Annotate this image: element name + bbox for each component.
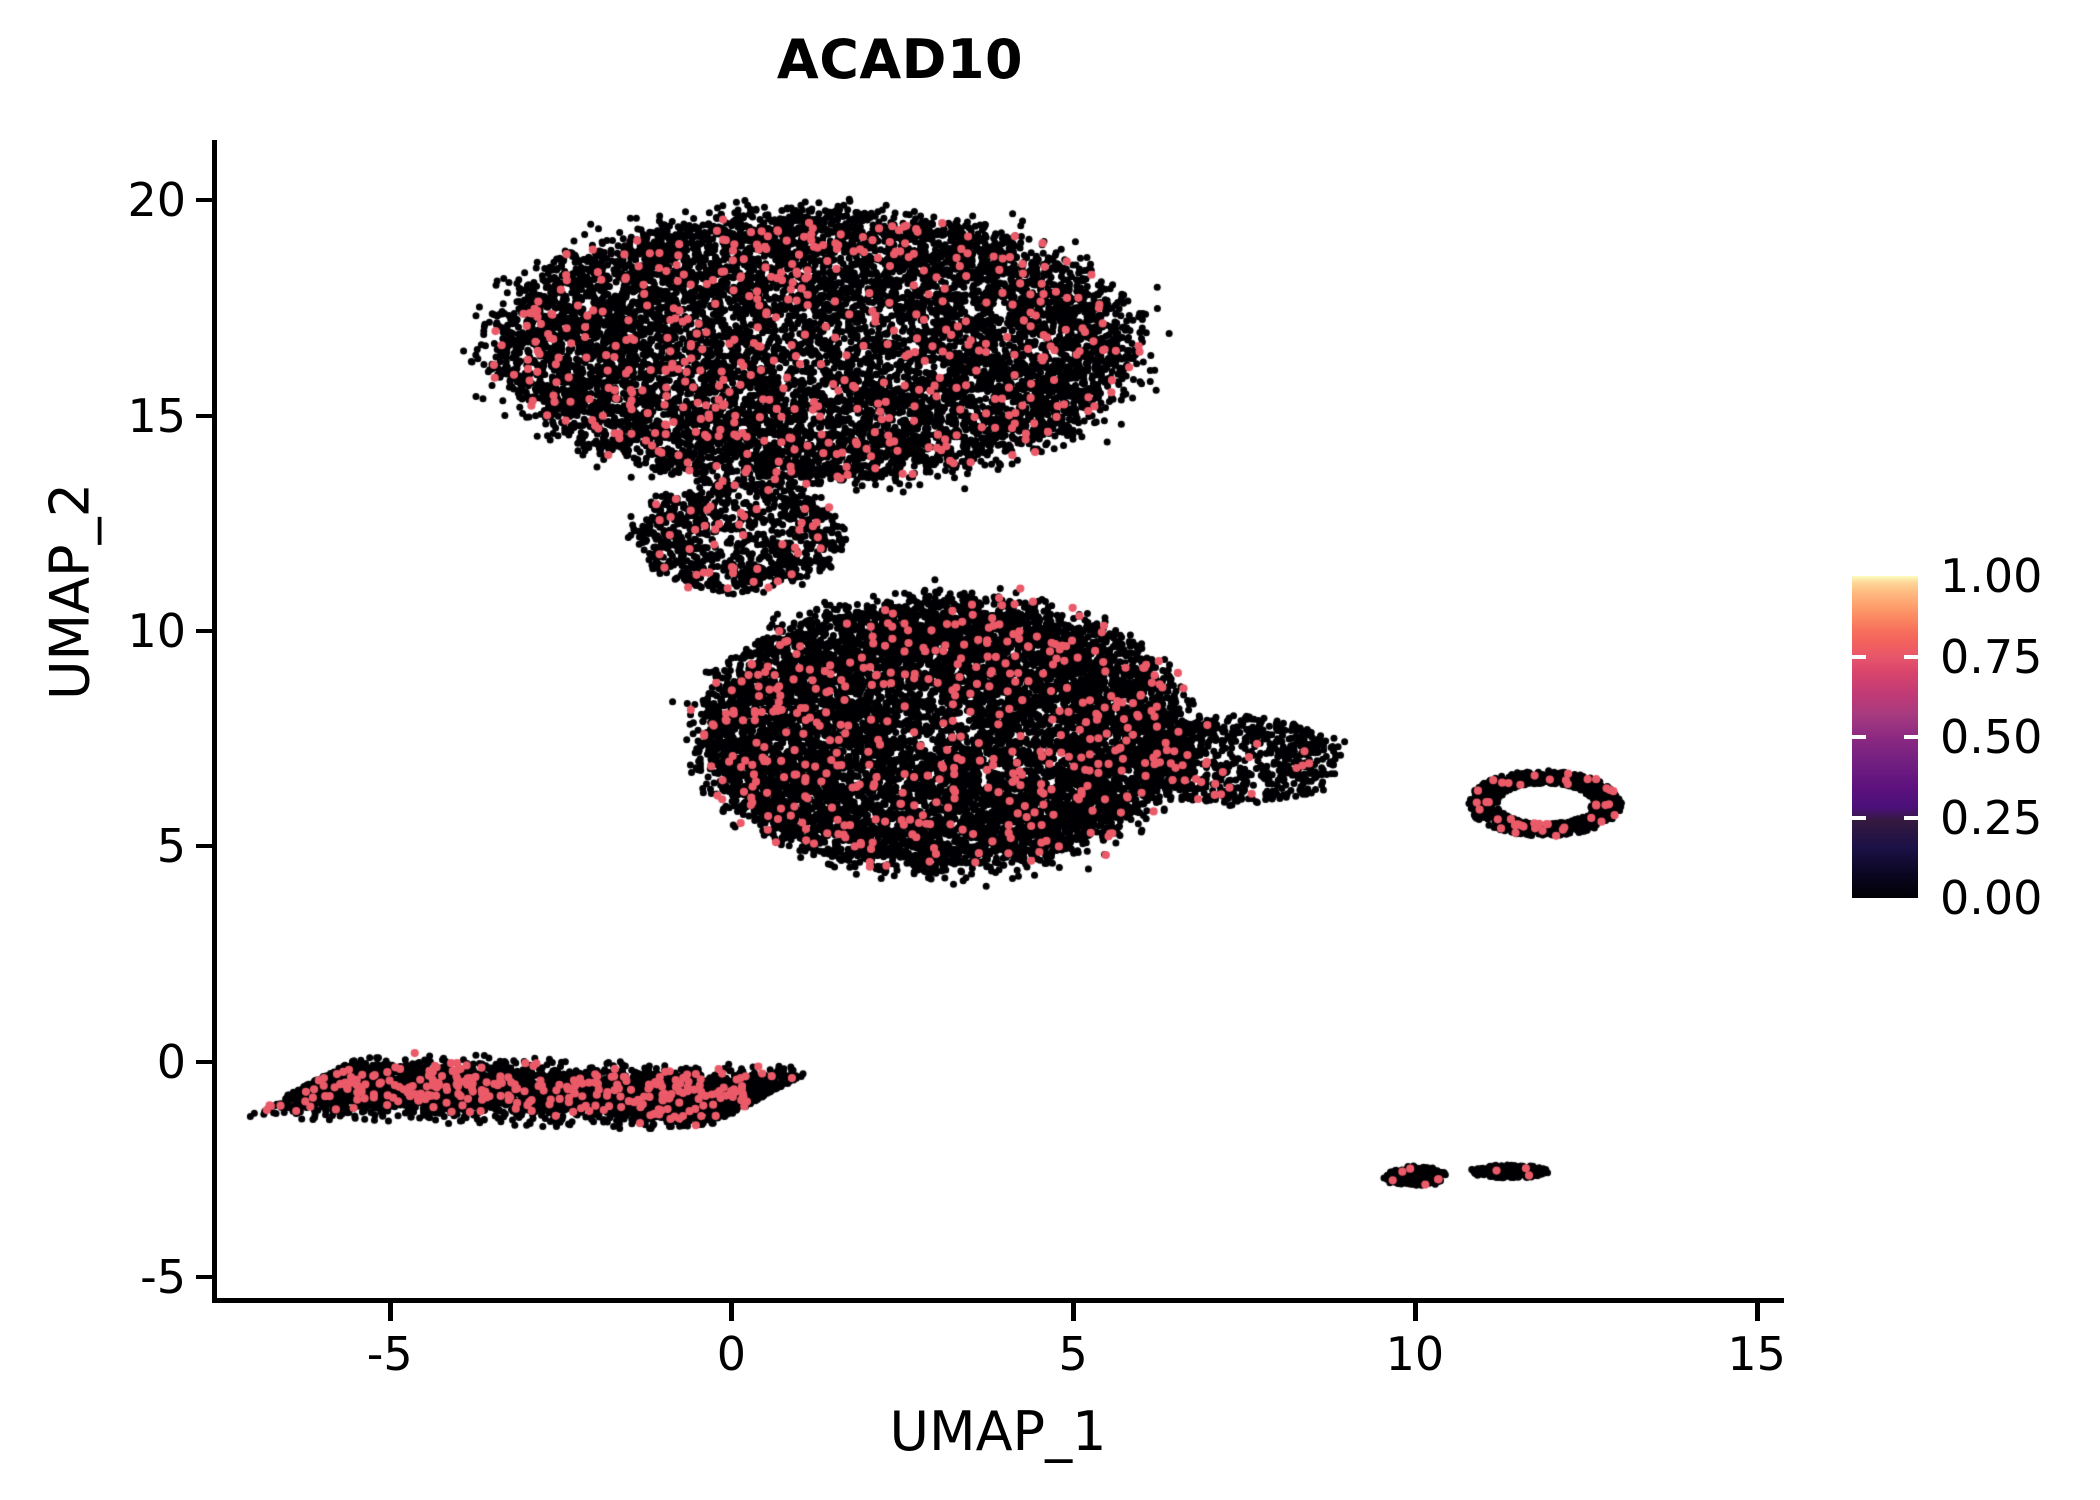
- x-tick-mark: [1755, 1303, 1760, 1321]
- y-tick-label: 15: [127, 389, 186, 443]
- x-tick-mark: [1413, 1303, 1418, 1321]
- colorbar-gradient: [1852, 576, 1918, 898]
- x-tick-mark: [729, 1303, 734, 1321]
- x-tick-label: 15: [1727, 1327, 1786, 1381]
- y-tick-mark: [196, 629, 212, 633]
- colorbar-tick-label: 1.00: [1940, 549, 2042, 603]
- y-tick-label: 0: [157, 1035, 186, 1089]
- colorbar-tick-label: 0.50: [1940, 710, 2042, 764]
- x-tick-label: 5: [1059, 1327, 1088, 1381]
- y-tick-label: 20: [127, 173, 186, 227]
- y-tick-label: 10: [127, 604, 186, 658]
- y-tick-mark: [196, 1275, 212, 1279]
- colorbar-tick-label: 0.00: [1940, 871, 2042, 925]
- x-tick-label: 0: [717, 1327, 746, 1381]
- x-axis-label: UMAP_1: [212, 1400, 1784, 1463]
- y-tick-mark: [196, 844, 212, 848]
- x-tick-mark: [388, 1303, 393, 1321]
- y-tick-label: 5: [157, 819, 186, 873]
- x-tick-label: -5: [367, 1327, 413, 1381]
- colorbar: 1.000.750.500.250.00: [1852, 576, 2092, 898]
- x-tick-mark: [1071, 1303, 1076, 1321]
- umap-feature-plot: ACAD10 -505101520 -5051015 UMAP_1 UMAP_2…: [0, 0, 2100, 1500]
- y-tick-mark: [196, 198, 212, 202]
- y-tick-label: -5: [140, 1250, 186, 1304]
- colorbar-tick-label: 0.75: [1940, 630, 2042, 684]
- y-axis-label: UMAP_2: [39, 242, 102, 942]
- y-tick-mark: [196, 1060, 212, 1064]
- x-tick-label: 10: [1386, 1327, 1445, 1381]
- scatter-plot-area: [212, 140, 1784, 1303]
- page-title: ACAD10: [0, 28, 1800, 91]
- colorbar-tick-label: 0.25: [1940, 791, 2042, 845]
- y-tick-mark: [196, 414, 212, 418]
